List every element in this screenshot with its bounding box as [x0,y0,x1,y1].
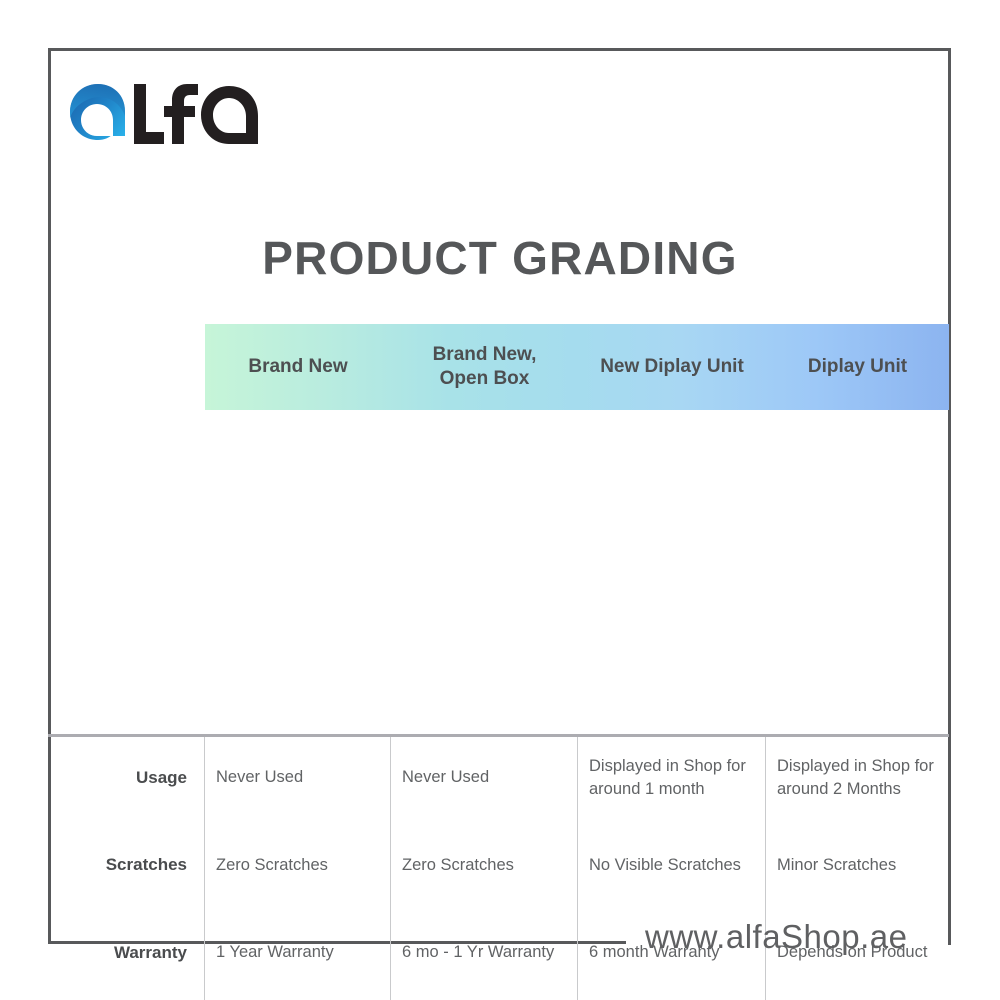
column-header-brand-new-open-box: Brand New, Open Box [391,324,578,410]
logo-letters-lfa-dark [134,84,258,144]
table-row: Scratches Zero Scratches Zero Scratches … [51,825,949,913]
logo-letter-a-blue [70,84,125,144]
table-row: Usage Never Used Never Used Displayed in… [51,737,949,825]
row-label-scratches: Scratches [51,825,205,913]
cell-scratches-diplay: Minor Scratches [766,825,949,913]
product-grading-table: Brand New Brand New, Open Box New Diplay… [51,324,949,410]
column-header-new-diplay-unit: New Diplay Unit [578,324,766,410]
column-header-diplay-unit: Diplay Unit [766,324,949,410]
cell-warranty-brand-new: 1 Year Warranty [205,912,391,1000]
cell-scratches-open-box: Zero Scratches [391,825,578,913]
footer-website: www.alfaShop.ae [645,918,908,956]
cell-usage-brand-new: Never Used [205,737,391,825]
table-header-row: Brand New Brand New, Open Box New Diplay… [51,324,949,410]
cell-scratches-new-diplay: No Visible Scratches [578,825,766,913]
row-label-warranty: Warranty [51,912,205,1000]
header-corner-cell [51,324,205,410]
cell-scratches-brand-new: Zero Scratches [205,825,391,913]
cell-warranty-open-box: 6 mo - 1 Yr Warranty [391,912,578,1000]
frame-border-top [48,48,951,51]
cell-usage-new-diplay: Displayed in Shop for around 1 month [578,737,766,825]
cell-usage-diplay: Displayed in Shop for around 2 Months [766,737,949,825]
alfa-logo-svg [68,82,260,148]
column-header-brand-new: Brand New [205,324,391,410]
cell-usage-open-box: Never Used [391,737,578,825]
page-title: PRODUCT GRADING [0,231,1000,285]
alfa-logo [68,82,260,148]
infographic-canvas: PRODUCT GRADING Brand New Brand New, Ope… [0,0,1000,1000]
row-label-usage: Usage [51,737,205,825]
table-body: Usage Never Used Never Used Displayed in… [51,737,949,1000]
